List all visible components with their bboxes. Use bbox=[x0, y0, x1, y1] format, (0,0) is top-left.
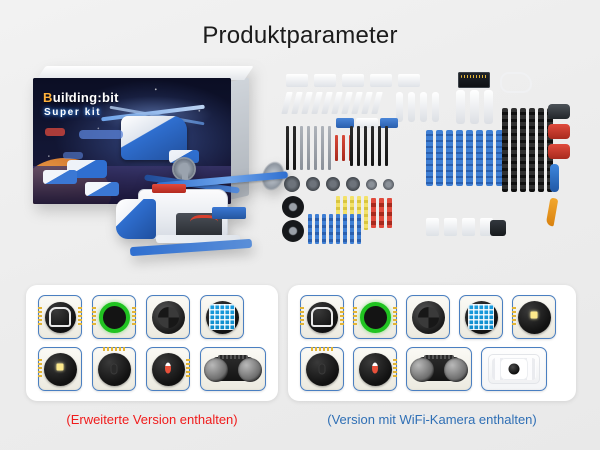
module-buzzer[interactable] bbox=[38, 295, 82, 339]
camera-lens-icon bbox=[509, 364, 520, 375]
parts-group-axles-2 bbox=[350, 126, 388, 166]
module-dht-matrix[interactable] bbox=[459, 295, 503, 339]
page-title: Produktparameter bbox=[0, 22, 600, 50]
parts-spread-image bbox=[278, 68, 584, 268]
pin-strip-icon bbox=[512, 307, 516, 327]
ultrasonic-eye-right bbox=[238, 358, 262, 382]
part-orange-tool bbox=[546, 198, 559, 227]
led-base-icon bbox=[44, 353, 77, 386]
parts-group-connectors bbox=[426, 218, 493, 236]
module-ultrasonic[interactable] bbox=[406, 347, 472, 391]
flame-icon bbox=[372, 362, 378, 373]
parts-group-frames bbox=[456, 90, 493, 124]
ultrasonic-icon bbox=[204, 355, 262, 383]
module-led-ring[interactable] bbox=[353, 295, 397, 339]
parts-group-angle-beams bbox=[284, 92, 380, 114]
pin-strip-icon bbox=[78, 307, 82, 327]
part-motor-grey bbox=[548, 104, 570, 119]
module-flame-sensor[interactable] bbox=[146, 347, 190, 391]
module-wifi-camera[interactable] bbox=[481, 347, 547, 391]
box-model-graphic-4 bbox=[85, 182, 119, 196]
box-subtitle-label: Super kit bbox=[44, 107, 101, 118]
buzzer-dome-icon bbox=[49, 307, 71, 327]
buzzer-dome-icon bbox=[311, 307, 333, 327]
fan-icon bbox=[152, 301, 185, 334]
matrix-base-icon bbox=[465, 301, 498, 334]
module-led-light[interactable] bbox=[512, 295, 556, 339]
part-blue-tube bbox=[550, 164, 559, 192]
pin-strip-icon bbox=[300, 307, 304, 327]
pin-strip-icon bbox=[340, 307, 344, 327]
hero-photo-area: Building:bit Super kit bbox=[0, 58, 600, 283]
ultrasonic-icon bbox=[410, 355, 468, 383]
box-brand-label: Building:bit bbox=[43, 90, 119, 105]
dark-sensor-icon bbox=[306, 353, 339, 386]
module-fan[interactable] bbox=[146, 295, 190, 339]
ultrasonic-eye-left bbox=[204, 358, 228, 382]
robot-red-block bbox=[152, 184, 186, 193]
pin-strip-icon bbox=[38, 359, 42, 379]
sensor-panel-standard bbox=[26, 285, 278, 401]
pin-strip-icon bbox=[38, 307, 42, 327]
ultrasonic-eye-right bbox=[444, 358, 468, 382]
box-badge-blue-2 bbox=[63, 152, 83, 159]
led-square-icon bbox=[531, 312, 538, 319]
module-fan[interactable] bbox=[406, 295, 450, 339]
sensor-eye-icon bbox=[112, 365, 117, 374]
green-led-ring-icon bbox=[99, 302, 130, 333]
expansion-board-pins bbox=[461, 75, 487, 78]
module-dht-matrix[interactable] bbox=[200, 295, 244, 339]
pin-strip-icon bbox=[393, 359, 397, 379]
parts-group-black-pins bbox=[502, 108, 553, 192]
module-flame-sensor[interactable] bbox=[353, 347, 397, 391]
sensor-row-bottom-right bbox=[300, 347, 547, 391]
part-buzzer-piece bbox=[490, 220, 506, 236]
sensor-panel-wifi-camera bbox=[288, 285, 576, 401]
ultrasonic-eye-left bbox=[410, 358, 434, 382]
pin-strip-icon bbox=[132, 307, 136, 327]
parts-group-long-beams bbox=[396, 92, 439, 122]
sensor-row-top-right bbox=[300, 295, 556, 339]
assembled-robot-image bbox=[116, 151, 288, 269]
buzzer-icon bbox=[307, 302, 338, 333]
pin-strip-icon bbox=[92, 307, 96, 327]
module-motion-sensor[interactable] bbox=[300, 347, 344, 391]
sensor-eye-icon bbox=[320, 365, 325, 374]
robot-nose bbox=[116, 199, 156, 239]
sensor-row-bottom-left bbox=[38, 347, 266, 391]
fan-icon bbox=[412, 301, 445, 334]
led-square-icon bbox=[57, 364, 64, 371]
module-led-ring[interactable] bbox=[92, 295, 136, 339]
blue-matrix-icon bbox=[468, 304, 494, 330]
parts-group-blue-pins bbox=[426, 130, 503, 186]
parts-group-blocks bbox=[286, 74, 420, 87]
part-wheel-1 bbox=[282, 196, 304, 218]
parts-group-axles bbox=[286, 126, 352, 170]
sensor-row-top-left bbox=[38, 295, 244, 339]
pin-strip-icon bbox=[186, 359, 190, 379]
led-base-icon bbox=[518, 301, 551, 334]
module-ultrasonic[interactable] bbox=[200, 347, 266, 391]
green-led-ring-icon bbox=[360, 302, 391, 333]
pin-strip-icon bbox=[353, 307, 357, 327]
usb-cable bbox=[500, 72, 532, 93]
part-motor-red-1 bbox=[548, 124, 570, 139]
box-brand-text: Building:bit bbox=[43, 90, 119, 105]
caption-standard-version: (Erweiterte Version enthalten) bbox=[26, 412, 278, 427]
matrix-base-icon bbox=[206, 301, 239, 334]
module-motion-sensor[interactable] bbox=[92, 347, 136, 391]
buzzer-icon bbox=[45, 302, 76, 333]
parts-group-gears bbox=[284, 176, 394, 192]
pin-strip-icon bbox=[103, 347, 125, 351]
flame-icon bbox=[165, 362, 171, 373]
flame-base-icon bbox=[359, 353, 392, 386]
part-motor-red-2 bbox=[548, 144, 570, 159]
robot-blue-block bbox=[212, 207, 246, 219]
box-badge-blue bbox=[79, 130, 123, 139]
module-buzzer[interactable] bbox=[300, 295, 344, 339]
camera-icon bbox=[488, 354, 540, 384]
pin-strip-icon bbox=[393, 307, 397, 327]
pin-strip-icon bbox=[311, 347, 333, 351]
module-led-light[interactable] bbox=[38, 347, 82, 391]
part-wheel-2 bbox=[282, 220, 304, 242]
flame-base-icon bbox=[152, 353, 185, 386]
blue-matrix-icon bbox=[209, 304, 235, 330]
caption-wifi-camera-version: (Version mit WiFi-Kamera enthalten) bbox=[288, 412, 576, 427]
dark-sensor-icon bbox=[98, 353, 131, 386]
box-badge-red bbox=[45, 128, 65, 136]
parts-group-blue-small-pins bbox=[308, 214, 361, 244]
box-model-graphic-2 bbox=[43, 170, 77, 184]
product-parameter-page: Produktparameter bbox=[0, 0, 600, 450]
